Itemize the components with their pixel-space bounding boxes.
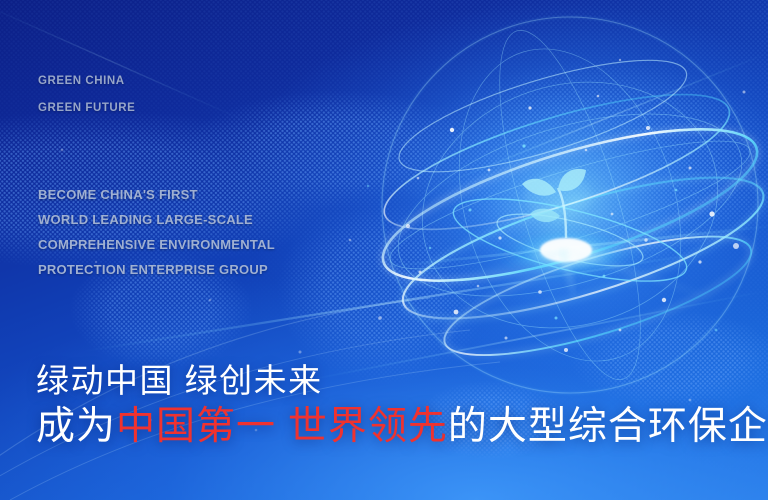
claim-line-4: PROTECTION ENTERPRISE GROUP (38, 257, 275, 282)
eco-hero-banner: GREEN CHINA GREEN FUTURE BECOME CHINA'S … (0, 0, 768, 500)
headline-block: 绿动中国 绿创未来 成为中国第一 世界领先的大型综合环保企业集团 (36, 360, 768, 452)
headline-prefix: 成为 (36, 405, 116, 448)
claim-line-1: BECOME CHINA'S FIRST (38, 182, 275, 207)
claim-line-2: WORLD LEADING LARGE-SCALE (38, 207, 275, 232)
tagline-line-2: GREEN FUTURE (38, 95, 135, 122)
headline-suffix: 的大型综合环保企业集团 (448, 405, 768, 448)
tagline-line-1: GREEN CHINA (38, 68, 135, 95)
claim-block: BECOME CHINA'S FIRST WORLD LEADING LARGE… (38, 182, 275, 282)
headline-line-1: 绿动中国 绿创未来 (36, 360, 768, 402)
headline-highlight: 中国第一 世界领先 (116, 405, 448, 448)
claim-line-3: COMPREHENSIVE ENVIRONMENTAL (38, 232, 275, 257)
headline-line-2: 成为中国第一 世界领先的大型综合环保企业集团 (36, 402, 768, 452)
tagline-block: GREEN CHINA GREEN FUTURE (38, 68, 135, 122)
